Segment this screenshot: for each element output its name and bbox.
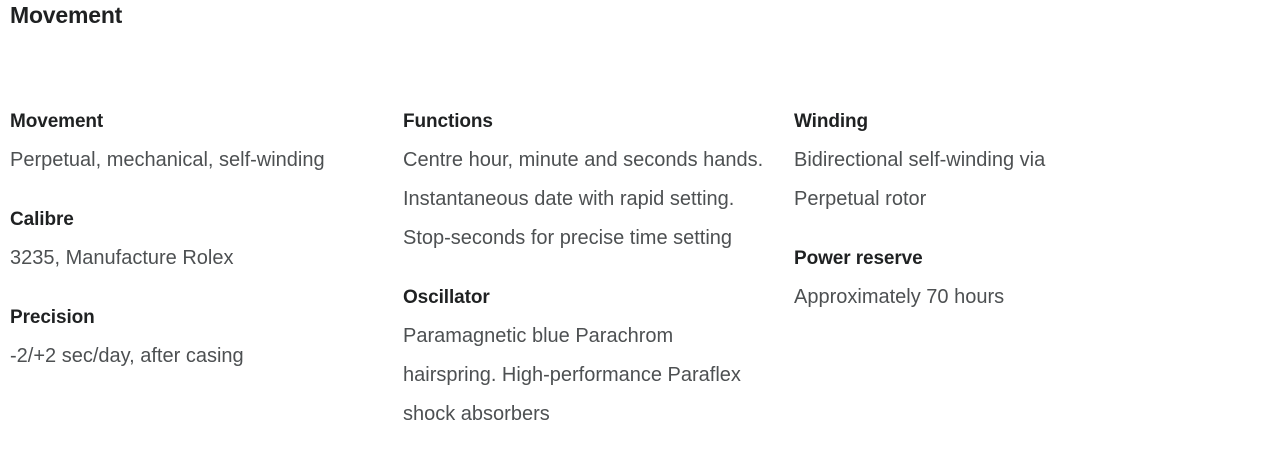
spec-value-precision: -2/+2 sec/day, after casing — [10, 337, 350, 376]
spec-label-movement: Movement — [10, 102, 403, 141]
spec-label-calibre: Calibre — [10, 200, 403, 239]
specification-columns: Movement Perpetual, mechanical, self-win… — [10, 102, 1287, 434]
spec-value-oscillator: Paramagnetic blue Parachrom hairspring. … — [403, 317, 771, 434]
spec-value-calibre: 3235, Manufacture Rolex — [10, 239, 350, 278]
spec-column-3: Winding Bidirectional self-winding via P… — [794, 102, 1174, 317]
spec-block-functions: Functions Centre hour, minute and second… — [403, 102, 794, 258]
spec-label-precision: Precision — [10, 298, 403, 337]
spec-value-functions: Centre hour, minute and seconds hands. I… — [403, 141, 771, 258]
spec-label-winding: Winding — [794, 102, 1174, 141]
spec-label-power-reserve: Power reserve — [794, 239, 1174, 278]
movement-specifications-section: Movement Movement Perpetual, mechanical,… — [0, 0, 1287, 469]
spec-block-oscillator: Oscillator Paramagnetic blue Parachrom h… — [403, 278, 794, 434]
spec-value-movement: Perpetual, mechanical, self-winding — [10, 141, 350, 180]
spec-label-functions: Functions — [403, 102, 794, 141]
spec-block-winding: Winding Bidirectional self-winding via P… — [794, 102, 1174, 219]
spec-value-winding: Bidirectional self-winding via Perpetual… — [794, 141, 1094, 219]
page-title: Movement — [10, 0, 1287, 30]
spec-value-power-reserve: Approximately 70 hours — [794, 278, 1094, 317]
spec-block-calibre: Calibre 3235, Manufacture Rolex — [10, 200, 403, 278]
spec-label-oscillator: Oscillator — [403, 278, 794, 317]
spec-block-precision: Precision -2/+2 sec/day, after casing — [10, 298, 403, 376]
spec-column-2: Functions Centre hour, minute and second… — [403, 102, 794, 434]
spec-block-movement: Movement Perpetual, mechanical, self-win… — [10, 102, 403, 180]
spec-block-power-reserve: Power reserve Approximately 70 hours — [794, 239, 1174, 317]
spec-column-1: Movement Perpetual, mechanical, self-win… — [10, 102, 403, 376]
